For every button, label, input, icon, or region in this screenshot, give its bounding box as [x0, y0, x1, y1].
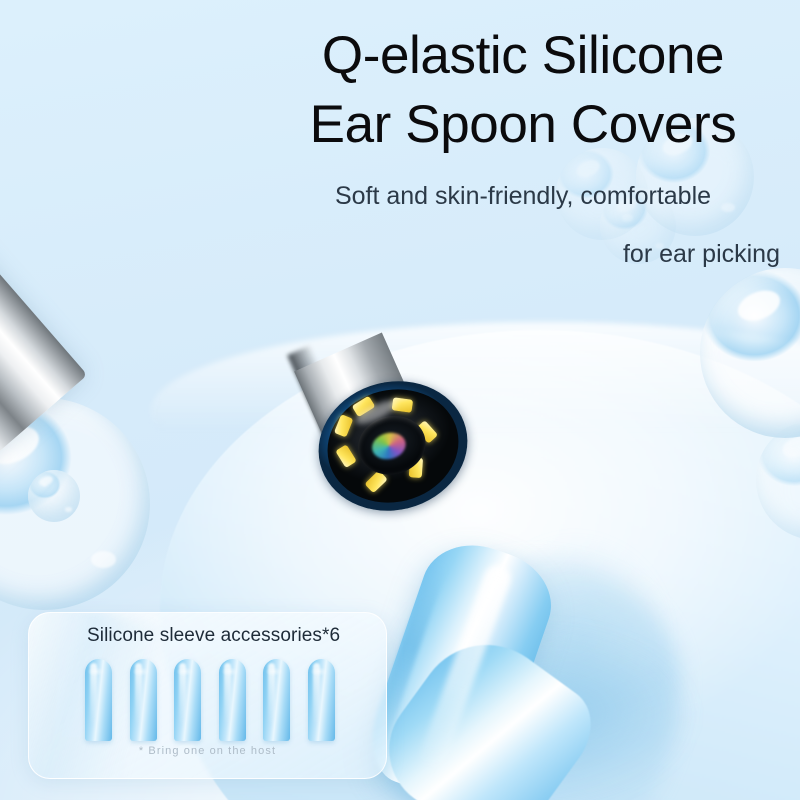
accessories-card-title: Silicone sleeve accessories*6 — [87, 625, 340, 647]
headline-line-1: Q-elastic Silicone — [322, 26, 724, 85]
metal-handle — [0, 0, 87, 485]
silicone-tip-2 — [130, 659, 157, 741]
accessories-card: Silicone sleeve accessories*6 * Bring on… — [28, 612, 387, 779]
subheadline-line-2: for ear picking — [258, 226, 788, 284]
page-title: Q-elastic Silicone Ear Spoon Covers — [258, 22, 788, 160]
headline-line-2: Ear Spoon Covers — [258, 91, 788, 160]
handle-gloss — [0, 0, 87, 485]
silicone-tip-6 — [308, 659, 335, 741]
silicone-tip-5 — [263, 659, 290, 741]
silicone-tips-row — [85, 655, 335, 741]
silicone-tip-3 — [174, 659, 201, 741]
accessories-card-note: * Bring one on the host — [29, 745, 386, 757]
silicone-tip-4 — [219, 659, 246, 741]
product-poster: Q-elastic Silicone Ear Spoon Covers Soft… — [0, 0, 800, 800]
subheadline-line-1: Soft and skin-friendly, comfortable — [335, 182, 711, 210]
silicone-tip-1 — [85, 659, 112, 741]
page-subtitle: Soft and skin-friendly, comfortable for … — [258, 168, 788, 283]
